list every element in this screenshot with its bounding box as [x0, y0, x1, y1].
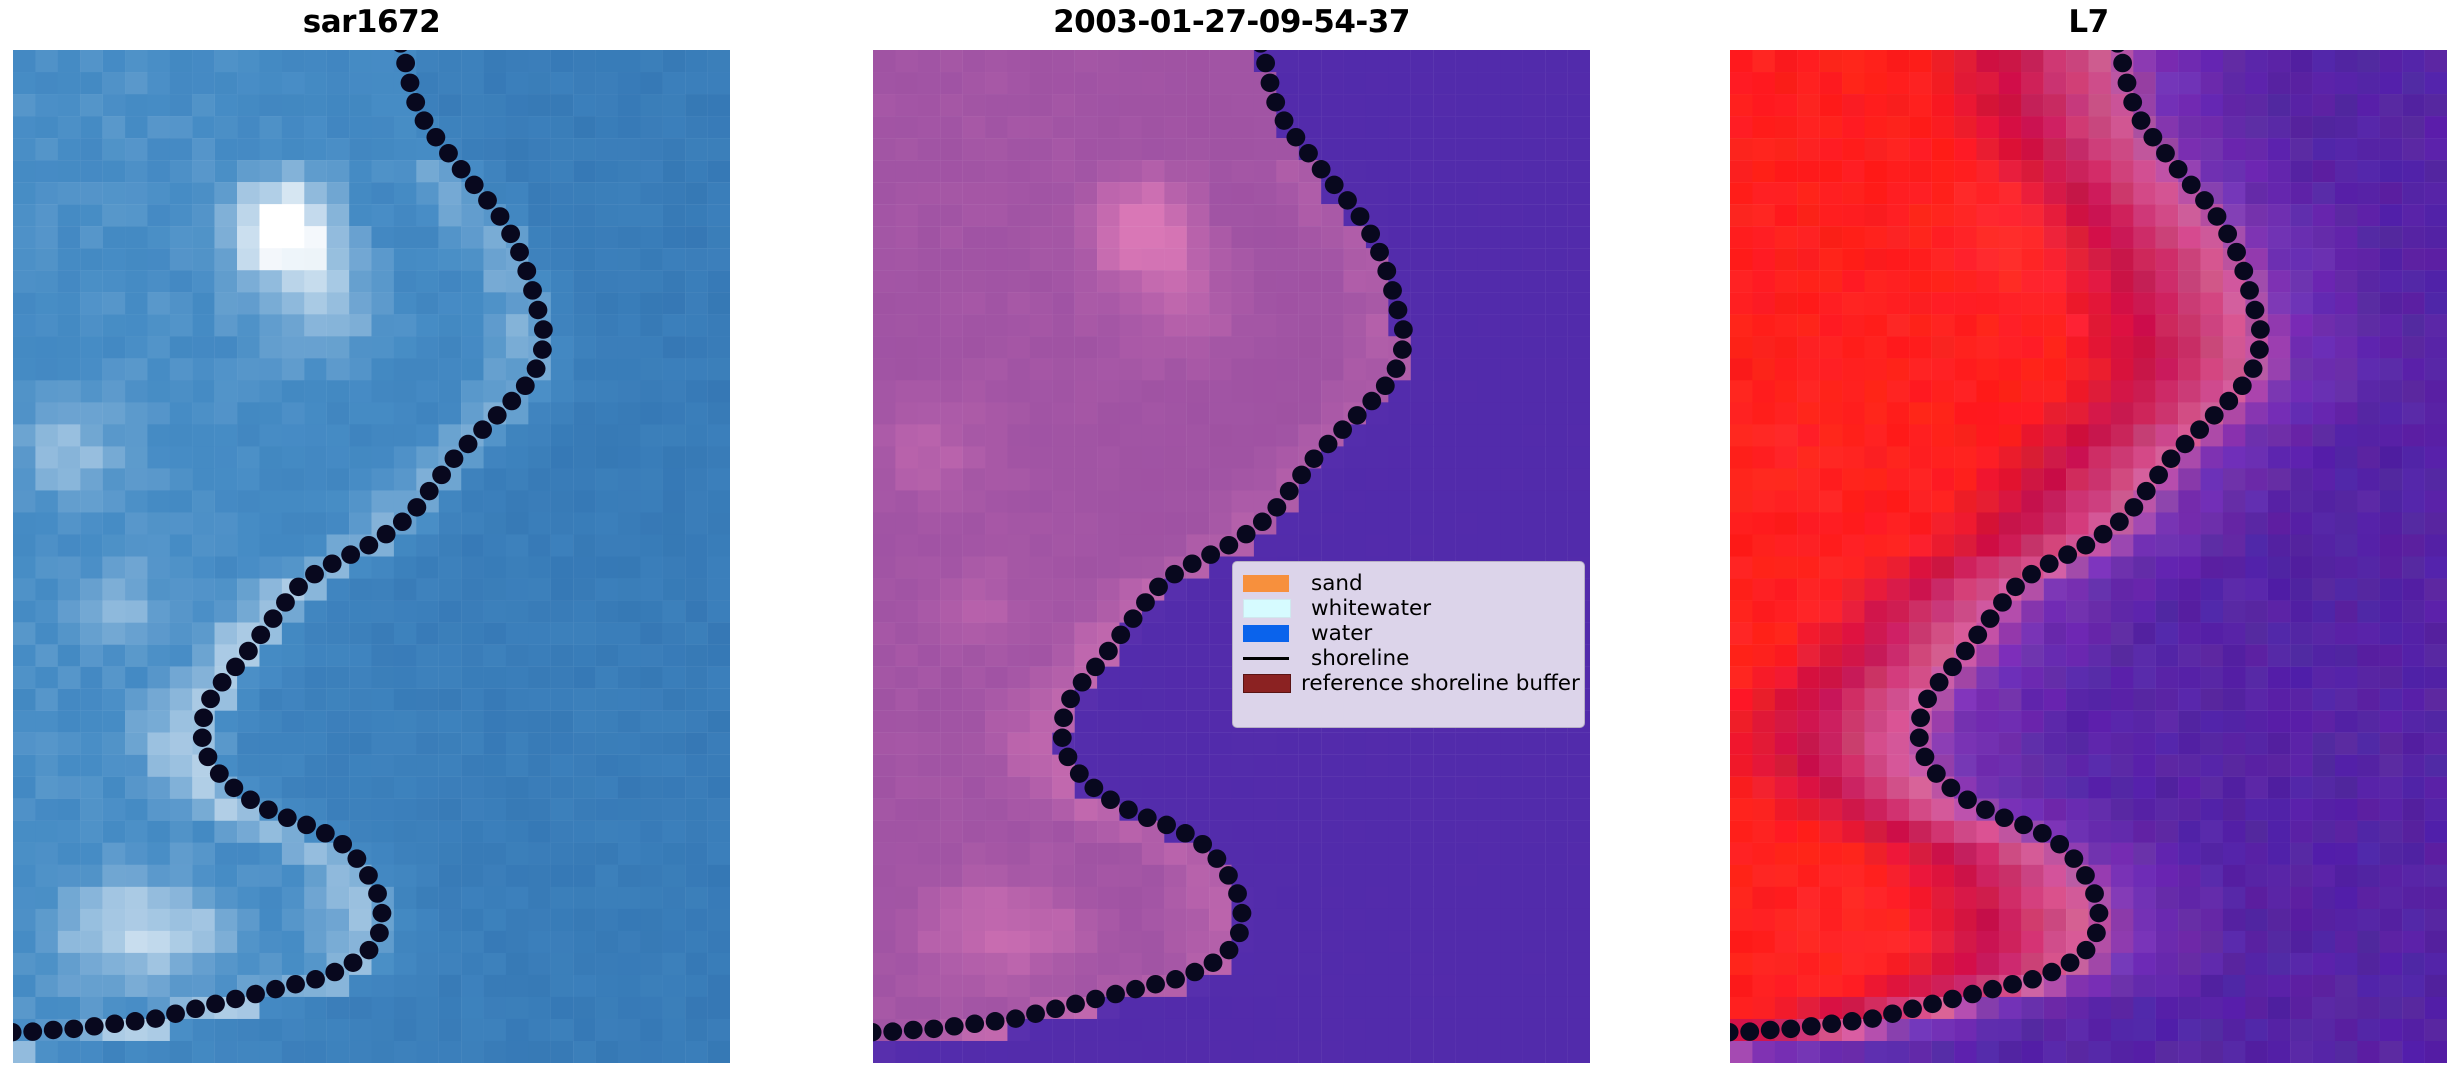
shoreline-line-icon [1243, 657, 1289, 660]
map-legend: sand whitewater water shoreline referenc… [1232, 561, 1585, 728]
reference-buffer-swatch-icon [1243, 674, 1291, 693]
classification-shoreline-dots [873, 50, 1590, 1063]
legend-item-whitewater: whitewater [1243, 596, 1573, 621]
legend-label-water: water [1301, 621, 1372, 646]
sar-shoreline-dots [13, 50, 730, 1063]
legend-label-sand: sand [1301, 571, 1363, 596]
legend-swatch-cell [1243, 674, 1291, 693]
legend-swatch-cell [1243, 575, 1301, 592]
legend-item-reference-buffer: reference shoreline buffer [1243, 671, 1573, 696]
sar-panel: sar1672 [13, 0, 730, 1076]
legend-item-sand: sand [1243, 571, 1573, 596]
classification-axes [873, 50, 1590, 1063]
legend-swatch-cell [1243, 657, 1301, 660]
legend-label-reference-buffer: reference shoreline buffer [1291, 671, 1580, 696]
panel-title-sar: sar1672 [13, 4, 730, 40]
figure-canvas: sar1672 2003-01-27-09-54-37 L7 sand [0, 0, 2460, 1076]
sand-swatch-icon [1243, 575, 1289, 592]
legend-label-whitewater: whitewater [1301, 596, 1431, 621]
legend-label-shoreline: shoreline [1301, 646, 1409, 671]
l7-axes [1730, 50, 2447, 1063]
l7-shoreline-dots [1730, 50, 2447, 1063]
panel-title-classification: 2003-01-27-09-54-37 [873, 4, 1590, 40]
legend-swatch-cell [1243, 599, 1301, 618]
legend-item-water: water [1243, 621, 1573, 646]
l7-panel: L7 [1730, 0, 2447, 1076]
water-swatch-icon [1243, 625, 1289, 642]
whitewater-swatch-icon [1243, 599, 1291, 618]
sar-axes [13, 50, 730, 1063]
panel-title-l7: L7 [1730, 4, 2447, 40]
classification-panel: 2003-01-27-09-54-37 [873, 0, 1590, 1076]
legend-swatch-cell [1243, 625, 1301, 642]
legend-item-shoreline: shoreline [1243, 646, 1573, 671]
